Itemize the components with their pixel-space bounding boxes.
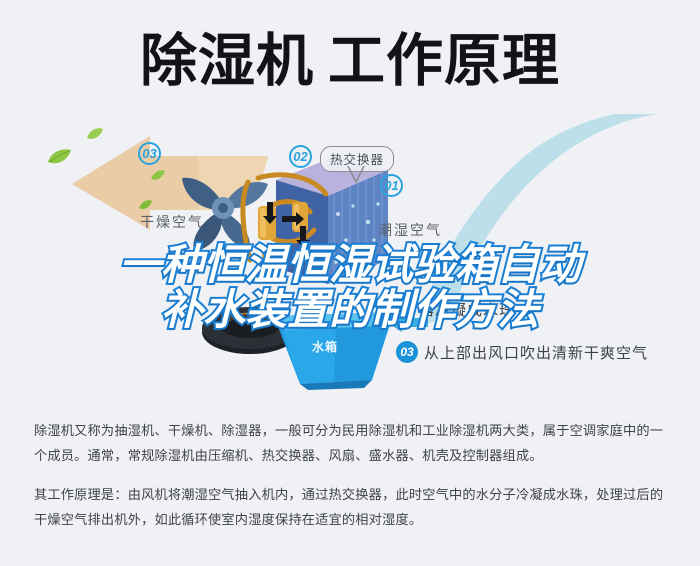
callout-label-dry-air: 干燥空气 [140, 212, 204, 232]
callout-badge-03: 03 [138, 142, 161, 165]
page-title-part1: 除湿机 [140, 29, 314, 93]
infographic-page: 除湿机工作原理 [0, 0, 700, 566]
body-paragraph-1: 除湿机又称为抽湿机、干燥机、除湿器，一般可分为民用除湿机和工业除湿机两大类，属于… [34, 418, 670, 468]
step-badge-03: 03 [396, 341, 418, 363]
page-title: 除湿机工作原理 [0, 26, 700, 96]
leaf-icon [150, 170, 166, 182]
leaf-icon [86, 128, 104, 141]
page-title-part2: 工作原理 [328, 29, 560, 93]
leaf-icon [138, 200, 153, 211]
body-copy: 除湿机又称为抽湿机、干燥机、除湿器，一般可分为民用除湿机和工业除湿机两大类，属于… [34, 418, 670, 546]
callout-badge-01: 01 [380, 174, 403, 197]
bubble-pointer-icon [345, 166, 367, 188]
overlay-title: 一种恒温恒湿试验箱自动 补水装置的制作方法 [0, 242, 700, 332]
overlay-title-line1: 一种恒温恒湿试验箱自动 [0, 242, 700, 287]
callout-badge-02: 02 [289, 145, 312, 168]
overlay-title-line2: 补水装置的制作方法 [0, 287, 700, 332]
water-tank-label: 水箱 [312, 338, 338, 355]
body-paragraph-2: 其工作原理是：由风机将潮湿空气抽入机内，通过热交换器，此时空气中的水分子冷凝成水… [34, 482, 670, 532]
callout-label-humid-air: 潮湿空气 [378, 220, 442, 240]
step-three-text: 从上部出风口吹出清新干爽空气 [424, 342, 648, 363]
leaf-icon [46, 148, 72, 166]
